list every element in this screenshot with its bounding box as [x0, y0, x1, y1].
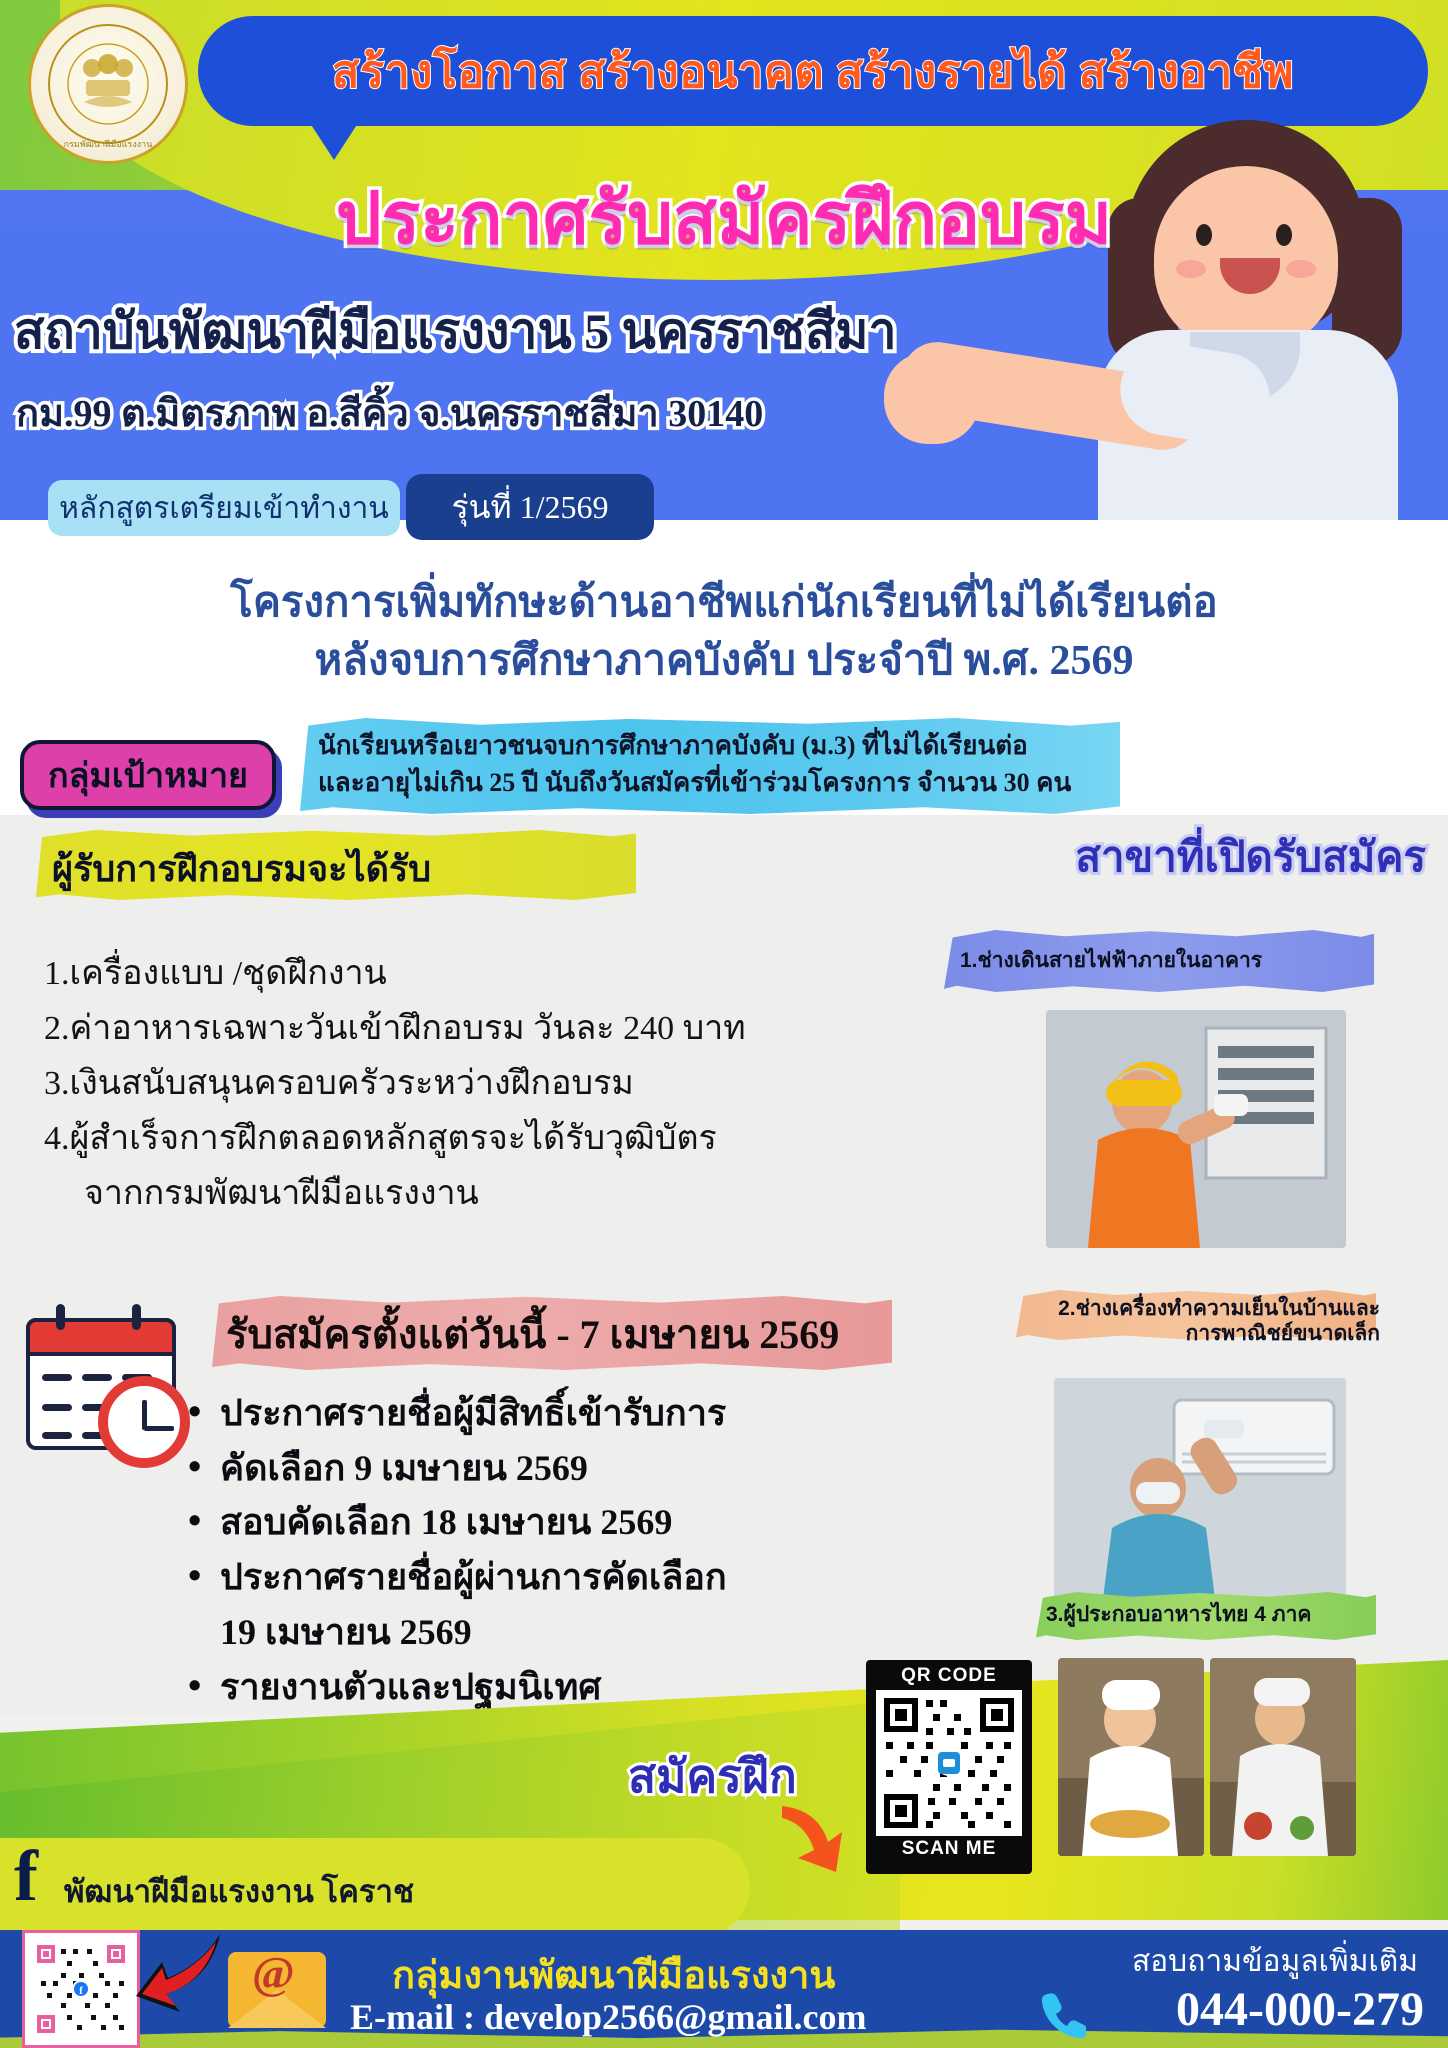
qr-scan-label: SCAN ME: [902, 1838, 997, 1860]
calendar-clock-icon: [20, 1300, 200, 1460]
clock-face: [98, 1376, 190, 1468]
calendar-ring-left: [56, 1304, 65, 1330]
pointing-hand-icon: [884, 352, 980, 444]
footer-ask-more-label: สอบถามข้อมูลเพิ่มเติม: [1132, 1938, 1418, 1985]
logo-ring-text: กรมพัฒนาฝีมือแรงงาน: [31, 137, 185, 151]
calendar-ring-right: [132, 1304, 141, 1330]
poster-root: สร้างโอกาส สร้างอนาคต สร้างรายได้ สร้างอ…: [0, 0, 1448, 2048]
benefit-item-2: 2.ค่าอาหารเฉพาะวันเข้าฝึกอบรม วันละ 240 …: [44, 1001, 744, 1056]
calendar-row-3a: [42, 1432, 72, 1439]
footer-phone-number[interactable]: 044-000-279: [1176, 1982, 1424, 2037]
branches-heading: สาขาที่เปิดรับสมัคร: [1075, 824, 1426, 890]
facebook-icon[interactable]: f: [14, 1846, 54, 1908]
branch-1-label: 1.ช่างเดินสายไฟฟ้าภายในอาคาร: [960, 948, 1262, 973]
red-arrow-icon: [132, 1930, 230, 2026]
calendar-row-1a: [42, 1374, 72, 1381]
calendar-row-2a: [42, 1404, 72, 1411]
benefits-heading: ผู้รับการฝึกอบรมจะได้รับ: [52, 840, 431, 897]
target-group-line2: และอายุไม่เกิน 25 ปี นับถึงวันสมัครที่เข…: [318, 765, 1118, 802]
qr-code-block[interactable]: QR CODE: [866, 1660, 1032, 1874]
facebook-page-name: พัฒนาฝีมือแรงงาน โคราช: [64, 1866, 414, 1916]
target-group-badge: กลุ่มเป้าหมาย: [20, 740, 276, 810]
phone-icon: [1036, 1988, 1086, 2038]
registration-date-heading: รับสมัครตั้งแต่วันนี้ - 7 เมษายน 2569: [226, 1302, 839, 1366]
slogan-text: สร้างโอกาส สร้างอนาคต สร้างรายได้ สร้างอ…: [332, 35, 1294, 107]
schedule-item-1: ประกาศรายชื่อผู้มีสิทธิ์เข้ารับการ: [186, 1386, 826, 1441]
project-title-line1: โครงการเพิ่มทักษะด้านอาชีพแก่นักเรียนที่…: [0, 575, 1448, 633]
project-title: โครงการเพิ่มทักษะด้านอาชีพแก่นักเรียนที่…: [0, 575, 1448, 691]
footer-email[interactable]: E-mail : develop2566@gmail.com: [350, 1996, 866, 2038]
facebook-qr-image: f: [33, 1941, 129, 2037]
department-logo: กรมพัฒนาฝีมือแรงงาน: [28, 4, 188, 164]
schedule-item-2: คัดเลือก 9 เมษายน 2569: [186, 1441, 826, 1496]
qr-code-image[interactable]: [876, 1690, 1022, 1836]
header-band: สร้างโอกาส สร้างอนาคต สร้างรายได้ สร้างอ…: [0, 0, 1448, 520]
benefit-item-1: 1.เครื่องแบบ /ชุดฝึกงาน: [44, 946, 744, 1001]
facebook-qr-code[interactable]: f: [22, 1930, 140, 2048]
project-title-line2: หลังจบการศึกษาภาคบังคับ ประจำปี พ.ศ. 256…: [0, 633, 1448, 691]
svg-text:f: f: [79, 1985, 83, 1997]
branch-1-photo: [1046, 1010, 1346, 1248]
benefits-list: 1.เครื่องแบบ /ชุดฝึกงาน 2.ค่าอาหารเฉพาะว…: [44, 946, 744, 1221]
slogan-bubble: สร้างโอกาส สร้างอนาคต สร้างรายได้ สร้างอ…: [198, 16, 1428, 126]
page-title: ประกาศรับสมัครฝึกอบรม: [0, 160, 1448, 275]
calendar-row-1b: [82, 1374, 112, 1381]
benefit-item-4-continued: จากกรมพัฒนาฝีมือแรงงาน: [44, 1166, 744, 1221]
batch-badge: รุ่นที่ 1/2569: [406, 474, 654, 540]
course-type-badge: หลักสูตรเตรียมเข้าทำงาน: [48, 480, 400, 536]
email-icon: @: [228, 1952, 326, 2028]
schedule-item-4-date: 19 เมษายน 2569: [186, 1605, 826, 1660]
organization-name: สถาบันพัฒนาฝีมือแรงงาน 5 นครราชสีมา: [14, 292, 897, 371]
calendar-header-bar: [26, 1318, 176, 1356]
branch-2-photo: [1054, 1378, 1346, 1622]
benefit-item-4: 4.ผู้สำเร็จการฝึกตลอดหลักสูตรจะได้รับวุฒ…: [44, 1111, 744, 1166]
schedule-item-4: ประกาศรายชื่อผู้ผ่านการคัดเลือก: [186, 1550, 826, 1605]
target-group-line1: นักเรียนหรือเยาวชนจบการศึกษาภาคบังคับ (ม…: [318, 728, 1118, 765]
orange-arrow-icon: [770, 1800, 850, 1884]
branch-3-photo-left: [1058, 1658, 1204, 1856]
seal-emblem-icon: [48, 24, 168, 144]
clock-hand-minute: [144, 1426, 174, 1431]
qr-code-title: QR CODE: [901, 1665, 997, 1687]
at-symbol-icon: @: [252, 1952, 304, 1996]
branch-3-photo-right: [1210, 1658, 1356, 1856]
branch-2-label: 2.ช่างเครื่องทำความเย็นในบ้านและการพาณิช…: [1030, 1296, 1380, 1346]
target-group-text: นักเรียนหรือเยาวชนจบการศึกษาภาคบังคับ (ม…: [318, 728, 1118, 802]
schedule-item-3: สอบคัดเลือก 18 เมษายน 2569: [186, 1495, 826, 1550]
benefit-item-3: 3.เงินสนับสนุนครอบครัวระหว่างฝึกอบรม: [44, 1056, 744, 1111]
branch-3-label: 3.ผู้ประกอบอาหารไทย 4 ภาค: [1046, 1602, 1311, 1627]
organization-address: กม.99 ต.มิตรภาพ อ.สีคิ้ว จ.นครราชสีมา 30…: [16, 382, 763, 443]
